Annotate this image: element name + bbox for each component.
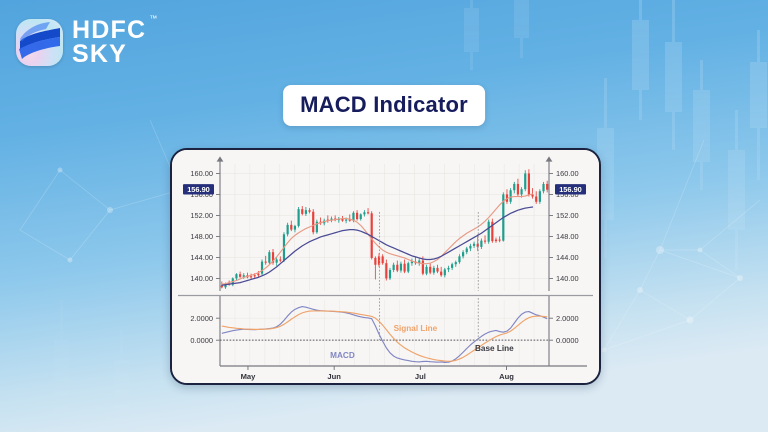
candle-body xyxy=(385,263,387,278)
brand-name-line2: SKY xyxy=(72,42,146,66)
candle-body xyxy=(422,261,424,274)
macd-tick-label: 2.0000 xyxy=(190,314,213,323)
candle-body xyxy=(444,269,446,275)
candle-body xyxy=(528,173,530,194)
candle-body xyxy=(287,225,289,234)
price-tick-label: 140.00 xyxy=(556,274,579,283)
candle-body xyxy=(466,248,468,252)
candle-body xyxy=(440,272,442,276)
candle-body xyxy=(469,246,471,249)
candle-body xyxy=(436,268,438,272)
candle-body xyxy=(473,244,475,246)
trademark-symbol: ™ xyxy=(149,15,157,23)
candle-body xyxy=(404,264,406,272)
price-tick-label: 148.00 xyxy=(556,232,579,241)
candle-body xyxy=(531,194,533,196)
candle-body xyxy=(341,219,343,221)
price-tick-label: 160.00 xyxy=(556,169,579,178)
candle-body xyxy=(513,184,515,190)
candle-body xyxy=(276,260,278,263)
candle-body xyxy=(510,190,512,202)
x-tick-label: Jul xyxy=(415,372,426,381)
candle-body xyxy=(312,212,314,232)
candle-body xyxy=(360,214,362,219)
candle-body xyxy=(495,240,497,242)
candle-body xyxy=(407,263,409,271)
candle-body xyxy=(539,191,541,201)
price-tick-label: 152.00 xyxy=(556,211,579,220)
x-tick-label: Jun xyxy=(327,372,341,381)
candle-body xyxy=(297,209,299,226)
candle-body xyxy=(279,260,281,261)
candle-body xyxy=(367,212,369,213)
macd-tick-label: 0.0000 xyxy=(556,336,579,345)
macd-tick-label: 2.0000 xyxy=(556,314,579,323)
page-title: MACD Indicator xyxy=(283,85,485,126)
price-tick-label: 160.00 xyxy=(190,169,213,178)
candle-body xyxy=(517,184,519,194)
price-badge-label: 156.90 xyxy=(187,185,210,194)
price-tick-label: 148.00 xyxy=(190,232,213,241)
brand-logo: HDFC ™ SKY xyxy=(16,18,146,66)
candle-body xyxy=(455,262,457,264)
price-tick-label: 144.00 xyxy=(556,253,579,262)
macd-line-label: MACD xyxy=(330,351,355,360)
candle-body xyxy=(382,256,384,263)
candle-body xyxy=(239,274,241,277)
candle-body xyxy=(305,210,307,214)
candle-body xyxy=(433,268,435,273)
candle-body xyxy=(235,274,237,278)
page-title-text: MACD Indicator xyxy=(300,92,468,118)
brand-name: HDFC ™ SKY xyxy=(72,18,146,66)
candle-body xyxy=(488,222,490,242)
candle-body xyxy=(396,265,398,271)
candle-body xyxy=(268,252,270,262)
price-badge: 156.90 xyxy=(183,184,214,194)
base-line-label: Base Line xyxy=(475,344,514,353)
candle-body xyxy=(458,256,460,262)
candle-body xyxy=(254,275,256,276)
candle-body xyxy=(400,264,402,271)
candle-body xyxy=(250,276,252,277)
price-tick-label: 152.00 xyxy=(190,211,213,220)
candle-body xyxy=(429,267,431,273)
candle-body xyxy=(520,189,522,194)
x-tick-label: Aug xyxy=(499,372,514,381)
price-badge: 156.90 xyxy=(555,184,586,194)
candle-body xyxy=(294,226,296,230)
macd-tick-label: 0.0000 xyxy=(190,336,213,345)
candle-body xyxy=(524,173,526,189)
price-tick-label: 144.00 xyxy=(190,253,213,262)
candle-body xyxy=(451,264,453,268)
candle-body xyxy=(356,213,358,219)
candle-body xyxy=(484,241,486,242)
macd-chart: 140.00140.00144.00144.00148.00148.00152.… xyxy=(172,150,599,383)
price-badge-label: 156.90 xyxy=(559,185,582,194)
candle-body xyxy=(462,252,464,256)
candle-body xyxy=(261,262,263,274)
hdfc-sky-globe-icon xyxy=(16,19,63,66)
candle-body xyxy=(389,270,391,278)
candle-body xyxy=(363,212,365,214)
macd-chart-card: 140.00140.00144.00144.00148.00148.00152.… xyxy=(170,148,601,385)
candle-body xyxy=(308,210,310,212)
candle-body xyxy=(393,265,395,270)
candle-body xyxy=(221,286,223,288)
candle-body xyxy=(480,241,482,247)
x-tick-label: May xyxy=(241,372,257,381)
candle-body xyxy=(425,267,427,274)
signal-line-label: Signal Line xyxy=(394,324,438,333)
candle-body xyxy=(290,225,292,230)
candle-body xyxy=(301,209,303,214)
candle-body xyxy=(499,240,501,241)
candle-body xyxy=(374,258,376,265)
candle-body xyxy=(257,274,259,276)
candle-body xyxy=(345,220,347,221)
candle-body xyxy=(265,262,267,263)
candle-body xyxy=(542,184,544,191)
candle-body xyxy=(535,197,537,202)
price-tick-label: 140.00 xyxy=(190,274,213,283)
candle-body xyxy=(546,184,548,190)
candle-body xyxy=(447,268,449,270)
